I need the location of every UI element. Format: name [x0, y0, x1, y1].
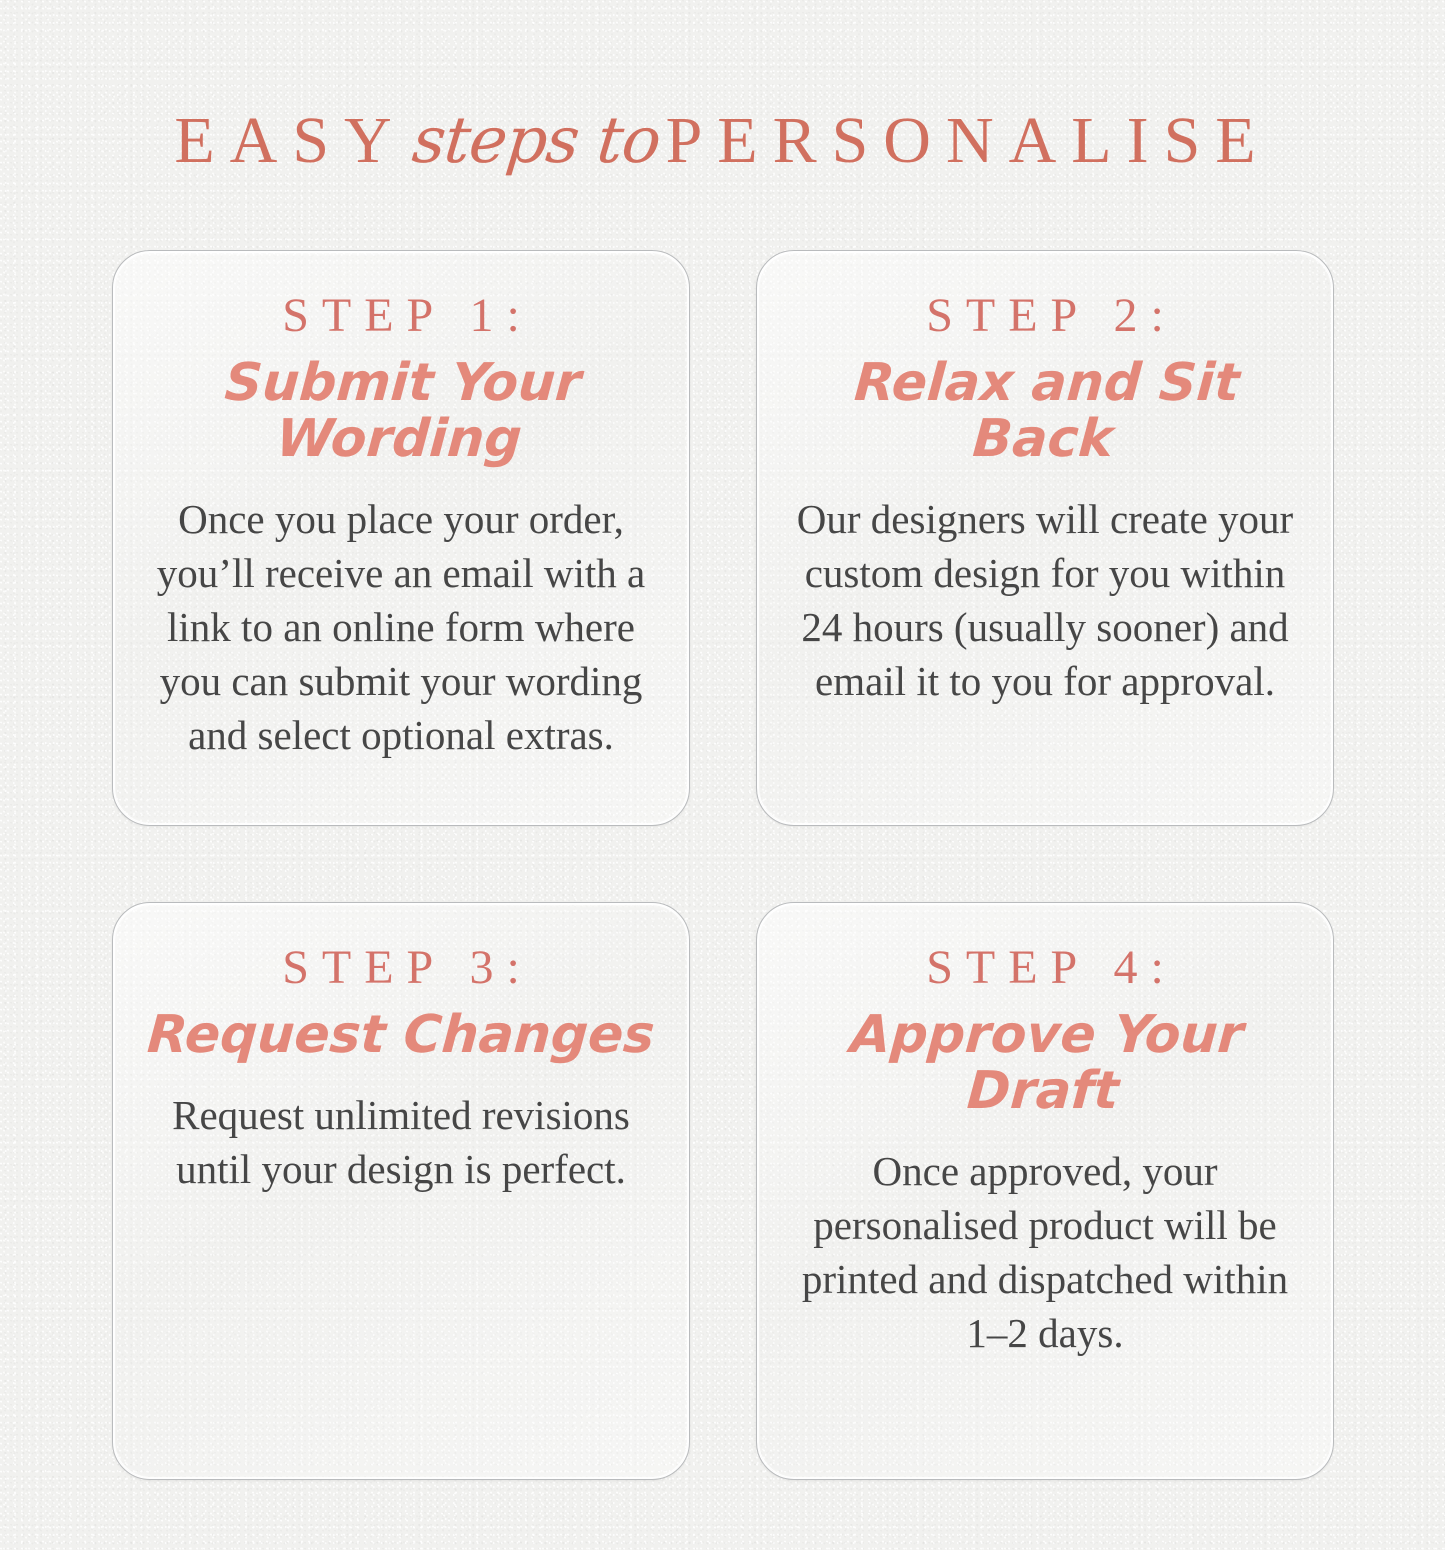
- step-card-4: STEP 4: Approve Your Draft Once approved…: [756, 902, 1334, 1480]
- step-card-1-label: STEP 1:: [147, 291, 655, 341]
- step-card-3-content: STEP 3: Request Changes Request unlimite…: [147, 943, 655, 1196]
- step-card-1-title: Submit Your Wording: [143, 355, 659, 467]
- step-card-3-title: Request Changes: [145, 1007, 657, 1063]
- step-card-4-title: Approve Your Draft: [787, 1007, 1303, 1119]
- step-card-1: STEP 1: Submit Your Wording Once you pla…: [112, 250, 690, 826]
- step-card-1-content: STEP 1: Submit Your Wording Once you pla…: [147, 291, 655, 762]
- step-card-4-content: STEP 4: Approve Your Draft Once approved…: [791, 943, 1299, 1360]
- step-card-2-label: STEP 2:: [791, 291, 1299, 341]
- step-card-1-body: Once you place your order, you’ll receiv…: [149, 492, 654, 763]
- step-card-3-body: Request unlimited revisions until your d…: [154, 1088, 649, 1196]
- step-card-4-body: Once approved, your personalised product…: [798, 1144, 1293, 1360]
- step-card-4-label: STEP 4:: [791, 943, 1299, 993]
- step-card-2-body: Our designers will create your custom de…: [793, 492, 1298, 708]
- step-card-2-content: STEP 2: Relax and Sit Back Our designers…: [791, 291, 1299, 708]
- header-script-steps-to: steps to: [403, 109, 669, 173]
- step-card-3: STEP 3: Request Changes Request unlimite…: [112, 902, 690, 1480]
- step-card-3-label: STEP 3:: [147, 943, 655, 993]
- steps-grid: STEP 1: Submit Your Wording Once you pla…: [112, 250, 1334, 1480]
- header-word-personalise: PERSONALISE: [666, 104, 1271, 177]
- steps-row-top: STEP 1: Submit Your Wording Once you pla…: [112, 250, 1334, 826]
- step-card-2: STEP 2: Relax and Sit Back Our designers…: [756, 250, 1334, 826]
- header-word-easy: EASY: [174, 104, 406, 177]
- step-card-2-title: Relax and Sit Back: [787, 355, 1303, 467]
- page-title: EASYsteps toPERSONALISE: [0, 108, 1445, 174]
- steps-row-bottom: STEP 3: Request Changes Request unlimite…: [112, 902, 1334, 1480]
- personalisation-steps-infographic: EASYsteps toPERSONALISE STEP 1: Submit Y…: [0, 0, 1445, 1550]
